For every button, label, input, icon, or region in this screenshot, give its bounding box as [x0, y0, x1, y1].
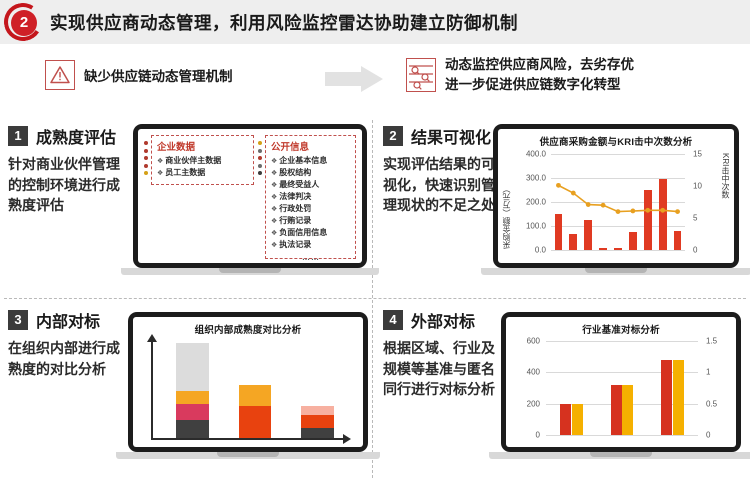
stack-segment — [239, 385, 272, 406]
laptop-screen-1: 企业数据 商业伙伴主数据 员工主数据 公开信息 — [138, 129, 362, 263]
page-title: 实现供应商动态管理，利用风险监控雷达协助建立防御机制 — [50, 10, 518, 35]
laptop-notch-1 — [219, 268, 281, 273]
list-item: 最终受益人 — [271, 179, 351, 191]
stacked-bar — [301, 406, 334, 438]
list-item: 负面信用信息 — [271, 227, 351, 239]
y2-tick-label: 15 — [693, 150, 717, 159]
bar — [673, 360, 684, 435]
stacked-bar — [176, 343, 209, 438]
stack-segment — [176, 343, 209, 391]
laptop-notch-4 — [590, 452, 652, 457]
badge-number: 2 — [11, 10, 37, 36]
bar — [611, 385, 622, 435]
quadrant-4-external-benchmark: 4 外部对标 根据区域、行业及规模等基准与匿名同行进行对标分析 行业基准对标分析… — [375, 300, 750, 481]
laptop-base-2 — [481, 268, 750, 275]
quadrant-3-number: 3 — [8, 310, 28, 330]
page-header: 2 实现供应商动态管理，利用风险监控雷达协助建立防御机制 — [0, 0, 750, 44]
bar — [560, 404, 571, 435]
quadrant-2-description: 实现评估结果的可视化，快速识别管理现状的不足之处 — [383, 154, 501, 216]
list-item: 员工主数据 — [157, 167, 249, 179]
stack-segment — [301, 406, 334, 416]
y-tick-label: 0.0 — [501, 246, 546, 255]
laptop-base-3 — [116, 452, 380, 459]
q3-chart-title: 组织内部成熟度对比分析 — [133, 317, 363, 336]
gridline — [546, 341, 698, 342]
y-tick-label: 200 — [508, 399, 540, 408]
horizontal-divider — [4, 298, 746, 299]
y-tick-label: 200.0 — [501, 198, 546, 207]
laptop-base-4 — [489, 452, 750, 459]
quadrant-1-description: 针对商业伙伴管理的控制环境进行成熟度评估 — [8, 154, 126, 216]
panel-enterprise-data: 企业数据 商业伙伴主数据 员工主数据 — [151, 135, 254, 185]
laptop-notch-2 — [585, 268, 647, 273]
header-badge: 2 — [0, 0, 48, 44]
problem-solution-band: 缺少供应链动态管理机制 动态监控供应商风险，去劣存优 进一步促进供应链数字化转型 — [0, 44, 750, 116]
quadrant-2-title: 结果可视化 — [411, 124, 491, 148]
q2-y2-axis-title: KRI击中次数 — [720, 153, 731, 249]
q3-chart: 组织内部成熟度对比分析 — [133, 317, 363, 447]
laptop-lid-3: 组织内部成熟度对比分析 — [128, 312, 368, 452]
q4-chart: 行业基准对标分析 020040060000.511.5 — [506, 317, 736, 447]
panel-enterprise-title: 企业数据 — [157, 139, 249, 153]
q3-plot-area — [153, 339, 341, 438]
quadrant-3-description: 在组织内部进行成熟度的对比分析 — [8, 338, 126, 379]
warning-triangle-icon — [45, 60, 75, 90]
stack-segment — [301, 415, 334, 428]
problem-block: 缺少供应链动态管理机制 — [45, 60, 233, 90]
laptop-mockup-3: 组织内部成熟度对比分析 — [128, 312, 368, 459]
q3-x-axis-line — [151, 438, 347, 440]
stack-segment — [176, 420, 209, 438]
laptop-mockup-2: 供应商采购金额与KRI击中次数分析 采购金额（万元） KRI击中次数 0.010… — [493, 124, 739, 275]
y2-tick-label: 0 — [693, 246, 717, 255]
stacked-bar — [239, 385, 272, 438]
list-item: 法律判决 — [271, 191, 351, 203]
list-item: 执法记录 — [271, 239, 351, 251]
y2-tick-label: 0.5 — [706, 399, 736, 408]
y2-tick-label: 10 — [693, 182, 717, 191]
laptop-base-1 — [121, 268, 379, 275]
laptop-lid-2: 供应商采购金额与KRI击中次数分析 采购金额（万元） KRI击中次数 0.010… — [493, 124, 739, 268]
solution-text: 动态监控供应商风险，去劣存优 进一步促进供应链数字化转型 — [436, 55, 634, 94]
quadrant-1-title: 成熟度评估 — [36, 124, 116, 148]
radar-scan-icon — [406, 58, 436, 92]
panel-public-list: 企业基本信息 股权结构 最终受益人 法律判决 行政处罚 行贿记录 负面信用信息 … — [271, 155, 351, 251]
quadrant-2-result-visualization: 2 结果可视化 实现评估结果的可视化，快速识别管理现状的不足之处 供应商采购金额… — [375, 116, 750, 298]
list-item: 股权结构 — [271, 167, 351, 179]
y2-tick-label: 0 — [706, 431, 736, 440]
laptop-mockup-4: 行业基准对标分析 020040060000.511.5 — [501, 312, 741, 459]
q2-line-series — [551, 154, 685, 250]
laptop-screen-2: 供应商采购金额与KRI击中次数分析 采购金额（万元） KRI击中次数 0.010… — [498, 129, 734, 263]
list-item: 行贿记录 — [271, 215, 351, 227]
list-item: 企业基本信息 — [271, 155, 351, 167]
quadrant-4-description: 根据区域、行业及规模等基准与匿名同行进行对标分析 — [383, 338, 501, 400]
bar — [572, 404, 583, 435]
quadrant-1-maturity-assessment: 1 成熟度评估 针对商业伙伴管理的控制环境进行成熟度评估 企业数据 — [0, 116, 375, 298]
quadrant-1-number: 1 — [8, 126, 28, 146]
bar — [622, 385, 633, 435]
stack-segment — [239, 406, 272, 438]
panel-public-title: 公开信息 — [271, 139, 351, 153]
list-item: 商业伙伴主数据 — [157, 155, 249, 167]
laptop-lid-4: 行业基准对标分析 020040060000.511.5 — [501, 312, 741, 452]
quadrant-2-number: 2 — [383, 126, 403, 146]
stack-segment — [176, 391, 209, 404]
list-item: 行政处罚 — [271, 203, 351, 215]
gridline — [551, 250, 685, 251]
q4-plot-area: 020040060000.511.5 — [546, 341, 698, 435]
q3-x-arrow-icon — [343, 434, 351, 444]
laptop-screen-4: 行业基准对标分析 020040060000.511.5 — [506, 317, 736, 447]
dot-column-mid — [258, 135, 262, 259]
panel-enterprise-list: 商业伙伴主数据 员工主数据 — [157, 155, 249, 179]
solution-line-2: 进一步促进供应链数字化转型 — [445, 75, 634, 95]
dot-column-left — [144, 135, 148, 259]
stack-segment — [301, 428, 334, 438]
y-tick-label: 400.0 — [501, 150, 546, 159]
data-panels: 企业数据 商业伙伴主数据 员工主数据 公开信息 — [138, 129, 362, 263]
bar — [661, 360, 672, 435]
q2-chart: 供应商采购金额与KRI击中次数分析 采购金额（万元） KRI击中次数 0.010… — [498, 129, 734, 263]
laptop-screen-3: 组织内部成熟度对比分析 — [133, 317, 363, 447]
quadrant-3-internal-benchmark: 3 内部对标 在组织内部进行成熟度的对比分析 组织内部成熟度对比分析 — [0, 300, 375, 481]
stack-segment — [176, 404, 209, 420]
y-tick-label: 300.0 — [501, 174, 546, 183]
q4-chart-title: 行业基准对标分析 — [506, 317, 736, 336]
y-tick-label: 100.0 — [501, 222, 546, 231]
y-tick-label: 400 — [508, 368, 540, 377]
solution-line-1: 动态监控供应商风险，去劣存优 — [445, 55, 634, 75]
solution-block: 动态监控供应商风险，去劣存优 进一步促进供应链数字化转型 — [406, 55, 634, 94]
laptop-mockup-1: 企业数据 商业伙伴主数据 员工主数据 公开信息 — [133, 124, 367, 275]
y-tick-label: 600 — [508, 337, 540, 346]
problem-label: 缺少供应链动态管理机制 — [84, 65, 233, 85]
y2-tick-label: 1.5 — [706, 337, 736, 346]
quadrant-4-title: 外部对标 — [411, 308, 475, 332]
gridline — [546, 435, 698, 436]
q2-chart-title: 供应商采购金额与KRI击中次数分析 — [498, 129, 734, 148]
panel-public-ellipsis: …… — [271, 253, 351, 262]
laptop-lid-1: 企业数据 商业伙伴主数据 员工主数据 公开信息 — [133, 124, 367, 268]
y2-tick-label: 1 — [706, 368, 736, 377]
laptop-notch-3 — [217, 452, 279, 457]
q2-plot-area: 0.0100.0200.0300.0400.0051015 — [551, 154, 685, 250]
y2-tick-label: 5 — [693, 214, 717, 223]
quadrant-3-title: 内部对标 — [36, 308, 100, 332]
panel-public-info: 公开信息 企业基本信息 股权结构 最终受益人 法律判决 行政处罚 行贿记录 负面… — [265, 135, 356, 259]
right-arrow-icon — [325, 66, 387, 92]
y-tick-label: 0 — [508, 431, 540, 440]
quadrant-4-number: 4 — [383, 310, 403, 330]
